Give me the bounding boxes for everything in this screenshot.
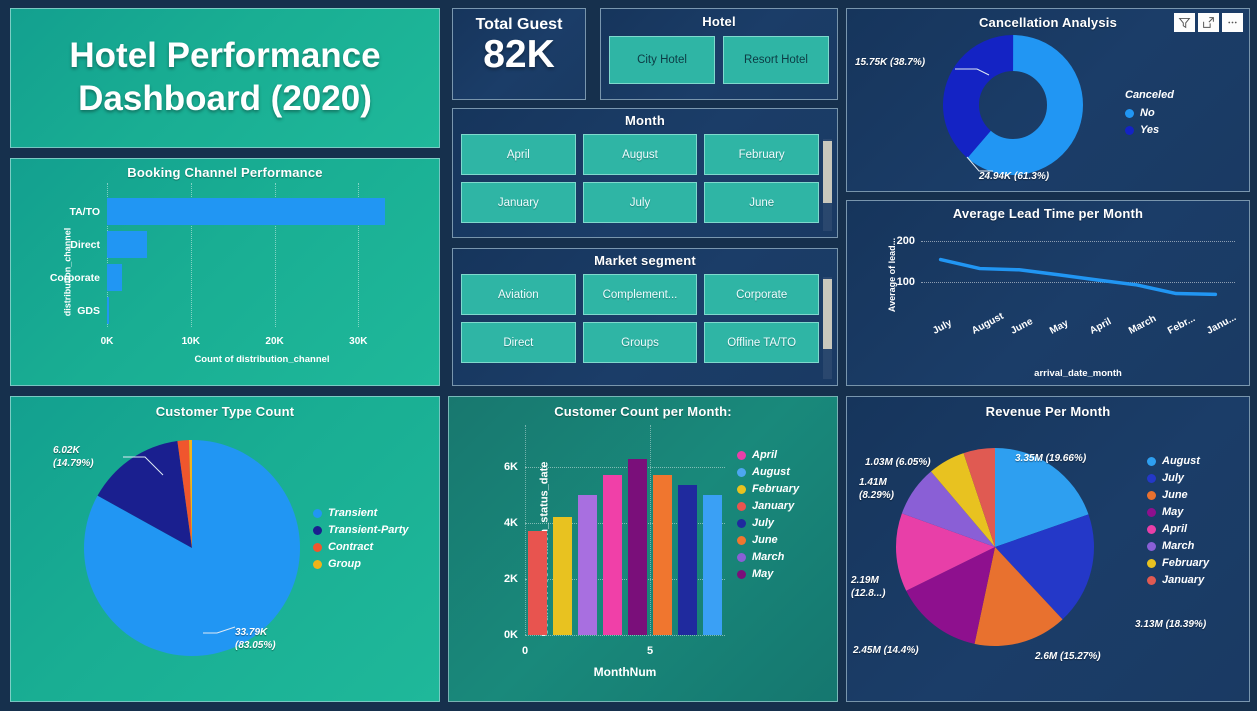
customer-count-bar[interactable] [653,475,673,635]
legend-swatch [737,502,746,511]
legend-swatch [1147,491,1156,500]
revenue-data-label: 3.13M (18.39%) [1135,619,1206,632]
legend-swatch [1125,109,1134,118]
legend-label: February [752,483,799,495]
revenue-data-label-value: 2.19M [851,575,885,588]
legend-swatch [1147,457,1156,466]
booking-channel-bar[interactable] [107,198,385,225]
month-slicer-title: Month [453,113,837,128]
cancellation-legend-item[interactable]: No [1125,107,1174,119]
customer-count-title: Customer Count per Month: [449,404,837,419]
revenue-data-label: 1.41M(8.29%) [859,477,894,502]
revenue-legend-item[interactable]: July [1147,472,1209,484]
booking-channel-bar[interactable] [107,264,122,291]
revenue-data-label: 1.03M (6.05%) [865,457,931,470]
lead-time-y-tick: 200 [897,235,915,247]
legend-swatch [737,553,746,562]
legend-swatch [1147,525,1156,534]
market-segment-option-0[interactable]: Aviation [461,274,576,315]
legend-swatch [737,485,746,494]
cancellation-legend-items: NoYes [1125,107,1174,136]
booking-channel-x-tick: 30K [349,336,367,347]
total-guest-label: Total Guest [453,16,585,34]
legend-label: Transient-Party [328,524,409,536]
legend-label: April [1162,523,1187,535]
customer-type-legend-item[interactable]: Transient-Party [313,524,409,536]
customer-count-gridline [525,635,725,636]
lead-time-x-axis-label: arrival_date_month [921,368,1235,379]
customer-count-gridline [525,467,725,468]
customer-count-legend-item[interactable]: August [737,466,799,478]
customer-type-label-transient-pct: (83.05%) [235,640,276,653]
customer-count-y-tick: 6K [504,461,518,473]
revenue-data-label-value: 1.41M [859,477,894,490]
market-segment-slicer-title: Market segment [453,253,837,268]
revenue-legend-item[interactable]: January [1147,574,1209,586]
customer-type-legend-item[interactable]: Transient [313,507,409,519]
customer-type-legend-item[interactable]: Contract [313,541,409,553]
revenue-data-label-pct: (8.29%) [859,490,894,503]
revenue-data-label: 2.19M(12.8...) [851,575,885,600]
average-lead-time-card: Average Lead Time per Month Average of l… [846,200,1250,386]
booking-channel-category-label: Direct [70,239,100,251]
legend-swatch [313,526,322,535]
legend-swatch [737,451,746,460]
booking-channel-title: Booking Channel Performance [11,165,439,180]
customer-count-card: Customer Count per Month: Count of reser… [448,396,838,702]
customer-count-legend-item[interactable]: February [737,483,799,495]
legend-label: May [1162,506,1183,518]
customer-type-legend: TransientTransient-PartyContractGroup [313,507,409,575]
revenue-legend-item[interactable]: April [1147,523,1209,535]
month-option-4[interactable]: July [583,182,698,223]
legend-label: July [1162,472,1184,484]
booking-channel-bar[interactable] [107,231,147,258]
legend-label: August [752,466,790,478]
visual-toolbar [1174,13,1243,32]
legend-swatch [737,570,746,579]
customer-type-label-party-value: 6.02K [53,445,94,458]
revenue-per-month-card: Revenue Per Month 3.35M (19.66%)3.13M (1… [846,396,1250,702]
hotel-option-0[interactable]: City Hotel [609,36,715,84]
legend-swatch [1147,474,1156,483]
market-segment-option-2[interactable]: Corporate [704,274,819,315]
month-slicer: Month AprilAugustFebruaryJanuaryJulyJune [452,108,838,238]
cancellation-legend: Canceled NoYes [1125,89,1174,141]
booking-channel-plot: 0K10K20K30KTA/TODirectCorporateGDSCount … [107,195,417,327]
legend-label: Group [328,558,361,570]
market-segment-option-1[interactable]: Complement... [583,274,698,315]
customer-count-vertical-gridline [525,425,526,635]
page-title-line1: Hotel Performance [69,35,380,78]
revenue-data-label: 3.35M (19.66%) [1015,453,1086,466]
customer-count-vertical-gridline [650,425,651,635]
customer-count-y-tick: 4K [504,517,518,529]
dashboard-canvas: Hotel Performance Dashboard (2020) Booki… [0,0,1257,711]
market-segment-slicer-options: AviationComplement...CorporateDirectGrou… [453,268,837,369]
revenue-legend: AugustJulyJuneMayAprilMarchFebruaryJanua… [1147,455,1209,591]
total-guest-value: 82K [453,33,585,77]
hotel-slicer-options: City HotelResort Hotel [601,29,837,84]
customer-count-legend-item[interactable]: June [737,534,799,546]
market-segment-option-4[interactable]: Groups [583,322,698,363]
booking-channel-x-axis-label: Count of distribution_channel [107,354,417,365]
booking-channel-bar[interactable] [107,297,109,324]
month-option-0[interactable]: April [461,134,576,175]
legend-swatch [737,468,746,477]
legend-label: March [1162,540,1194,552]
legend-swatch [1125,126,1134,135]
average-lead-time-title: Average Lead Time per Month [847,206,1249,221]
month-option-2[interactable]: February [704,134,819,175]
more-options-icon[interactable] [1222,13,1243,32]
lead-time-y-tick: 100 [897,276,915,288]
revenue-legend-item[interactable]: June [1147,489,1209,501]
revenue-legend-item[interactable]: August [1147,455,1209,467]
customer-count-legend-items: AprilAugustFebruaryJanuaryJulyJuneMarchM… [737,449,799,580]
revenue-data-label: 2.45M (14.4%) [853,645,919,658]
cancellation-legend-title: Canceled [1125,89,1174,101]
legend-swatch [737,519,746,528]
month-slicer-options: AprilAugustFebruaryJanuaryJulyJune [453,128,837,229]
legend-label: June [1162,489,1188,501]
customer-count-legend-item[interactable]: July [737,517,799,529]
cancellation-legend-item[interactable]: Yes [1125,124,1174,136]
month-slicer-scrollbar[interactable] [823,139,832,231]
month-slicer-scroll-thumb[interactable] [823,141,832,203]
legend-swatch [313,560,322,569]
customer-count-bar[interactable] [528,531,548,635]
customer-count-bar[interactable] [578,495,598,635]
donut-label-yes: 15.75K (38.7%) [855,57,925,68]
lead-time-y-axis-label: Average of lead... [887,237,897,311]
total-guest-card: Total Guest 82K [452,8,586,100]
legend-label: Contract [328,541,373,553]
customer-count-legend-item[interactable]: May [737,568,799,580]
customer-type-title: Customer Type Count [11,404,439,419]
customer-type-card: Customer Type Count 6.02K (14.79%) 33.79… [10,396,440,702]
legend-label: No [1140,107,1155,119]
customer-count-x-tick: 0 [522,645,528,657]
customer-type-label-transient: 33.79K (83.05%) [235,627,276,652]
legend-swatch [1147,576,1156,585]
legend-swatch [1147,508,1156,517]
customer-type-label-transient-value: 33.79K [235,627,276,640]
revenue-data-label: 2.6M (15.27%) [1035,651,1101,664]
market-segment-option-5[interactable]: Offline TA/TO [704,322,819,363]
market-segment-option-3[interactable]: Direct [461,322,576,363]
revenue-legend-item[interactable]: May [1147,506,1209,518]
hotel-slicer: Hotel City HotelResort Hotel [600,8,838,100]
booking-channel-category-label: Corporate [50,272,100,284]
month-option-5[interactable]: June [704,182,819,223]
customer-count-bar[interactable] [628,459,648,635]
legend-label: April [752,449,777,461]
customer-count-bar[interactable] [603,475,623,635]
legend-swatch [1147,542,1156,551]
booking-channel-card: Booking Channel Performance distribution… [10,158,440,386]
legend-swatch [1147,559,1156,568]
market-segment-scrollbar[interactable] [823,277,832,379]
customer-count-y-tick: 2K [504,573,518,585]
legend-label: July [752,517,774,529]
hotel-option-1[interactable]: Resort Hotel [723,36,829,84]
customer-count-y-tick: 0K [504,629,518,641]
hotel-slicer-title: Hotel [601,14,837,29]
legend-swatch [313,509,322,518]
customer-count-x-tick: 5 [647,645,653,657]
revenue-pie[interactable] [895,447,1095,647]
cancellation-analysis-card: Cancellation Analysis [846,8,1250,192]
customer-count-x-axis-label: MonthNum [525,665,725,679]
month-option-3[interactable]: January [461,182,576,223]
legend-swatch [313,543,322,552]
legend-label: Yes [1140,124,1159,136]
customer-type-legend-item[interactable]: Group [313,558,409,570]
customer-type-pie[interactable] [83,439,301,657]
customer-count-bar[interactable] [553,517,573,635]
booking-channel-x-tick: 0K [101,336,114,347]
legend-label: June [752,534,778,546]
customer-count-legend-item[interactable]: January [737,500,799,512]
revenue-legend-item[interactable]: March [1147,540,1209,552]
revenue-legend-items: AugustJulyJuneMayAprilMarchFebruaryJanua… [1147,455,1209,586]
filter-icon[interactable] [1174,13,1195,32]
customer-count-legend: AprilAugustFebruaryJanuaryJulyJuneMarchM… [737,449,799,585]
booking-channel-category-label: GDS [77,305,100,317]
cancellation-donut[interactable] [943,35,1083,175]
legend-label: January [752,500,794,512]
customer-type-legend-items: TransientTransient-PartyContractGroup [313,507,409,570]
lead-time-line[interactable] [921,235,1235,323]
legend-label: March [752,551,784,563]
legend-label: May [752,568,773,580]
month-option-1[interactable]: August [583,134,698,175]
legend-label: February [1162,557,1209,569]
booking-channel-category-label: TA/TO [69,206,100,218]
booking-channel-x-tick: 20K [265,336,283,347]
customer-count-plot: 0K2K4K6K05MonthNum [525,439,725,635]
legend-label: August [1162,455,1200,467]
legend-label: January [1162,574,1204,586]
legend-label: Transient [328,507,377,519]
customer-type-label-party: 6.02K (14.79%) [53,445,94,470]
page-title-line2: Dashboard (2020) [78,78,372,121]
dashboard-title-card: Hotel Performance Dashboard (2020) [10,8,440,148]
legend-swatch [737,536,746,545]
focus-mode-icon[interactable] [1198,13,1219,32]
customer-count-bar[interactable] [678,485,698,635]
revenue-data-label-pct: (12.8...) [851,588,885,601]
customer-type-label-party-pct: (14.79%) [53,458,94,471]
revenue-per-month-title: Revenue Per Month [847,404,1249,419]
market-segment-slicer: Market segment AviationComplement...Corp… [452,248,838,386]
customer-count-legend-item[interactable]: March [737,551,799,563]
page-title: Hotel Performance Dashboard (2020) [11,9,439,147]
customer-count-bar[interactable] [703,495,723,635]
lead-time-plot: 100200JulyAugustJuneMayAprilMarchFebr...… [921,235,1235,323]
market-segment-scroll-thumb[interactable] [823,279,832,349]
booking-channel-x-tick: 10K [182,336,200,347]
revenue-legend-item[interactable]: February [1147,557,1209,569]
customer-count-legend-item[interactable]: April [737,449,799,461]
